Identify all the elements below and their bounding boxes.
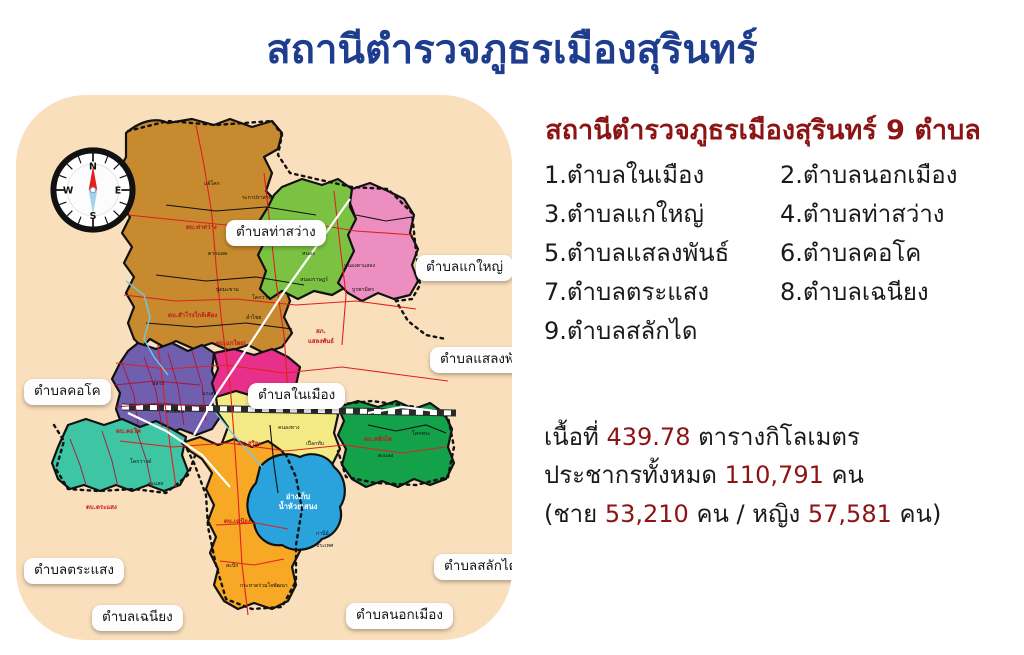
svg-text:ปูดมะขาม: ปูดมะขาม — [216, 287, 239, 293]
svg-text:กระหาดร่วมใจพัฒนา: กระหาดร่วมใจพัฒนา — [240, 582, 288, 589]
stat-gender-breakdown: (ชาย 53,210 คน / หญิง 57,581 คน) — [532, 495, 1012, 533]
poster-root: สถานีตำรวจภูธรเมืองสุรินทร์ .outl{stroke… — [0, 0, 1024, 655]
svg-text:ตากแดด: ตากแดด — [208, 251, 228, 257]
info-panel-subtitle: สถานีตำรวจภูธรเมืองสุรินทร์ 9 ตำบล — [518, 108, 1008, 151]
map-label-salaeng-phan[interactable]: ตำบลแสลงพันธ์ — [430, 347, 512, 373]
svg-text:หนองตาแสลง: หนองตาแสลง — [344, 263, 376, 269]
svg-text:หนองราษฎร์: หนองราษฎร์ — [300, 276, 328, 283]
map-label-salak-dai[interactable]: ตำบลสลักได — [434, 554, 512, 580]
compass-label-south: S — [90, 211, 97, 222]
compass-label-east: E — [115, 185, 121, 196]
stat-gender-open: (ชาย — [544, 500, 605, 528]
map-label-kae-yai[interactable]: ตำบลแกใหญ่ — [416, 255, 512, 281]
compass-label-north: N — [89, 161, 97, 172]
svg-text:ประเทศ: ประเทศ — [316, 543, 334, 549]
stat-population-suffix: คน — [824, 461, 864, 489]
svg-text:หนอง: หนอง — [302, 251, 315, 257]
svg-text:นาเสา: นาเสา — [202, 391, 216, 397]
svg-text:บูรพามิตร: บูรพามิตร — [352, 286, 374, 293]
svg-text:แจ้โคก: แจ้โคก — [204, 180, 220, 187]
lake-label-line2: น้ำห้วยเสนง — [279, 500, 318, 511]
svg-text:ตบ.สุริยะ: ตบ.สุริยะ — [238, 439, 262, 447]
map-label-nai-mueang[interactable]: ตำบลในเมือง — [248, 383, 345, 409]
tambon-item-5[interactable]: 5.ตำบลแสลงพันธ์ — [532, 236, 766, 270]
svg-text:ตบ.เฉนียง: ตบ.เฉนียง — [224, 517, 251, 525]
map-label-nok-mueang[interactable]: ตำบลนอกเมือง — [346, 603, 453, 629]
tambon-item-1[interactable]: 1.ตำบลในเมือง — [532, 158, 766, 192]
tambon-item-2[interactable]: 2.ตำบลนอกเมือง — [766, 158, 1002, 192]
stat-population: ประชากรทั้งหมด 110,791 คน — [532, 456, 1012, 494]
tambon-item-6[interactable]: 6.ตำบลคอโค — [766, 236, 1002, 270]
svg-text:ตบ.สำโรงใกล้เคียง: ตบ.สำโรงใกล้เคียง — [168, 311, 217, 319]
map-panel: .outl{stroke:#111;stroke-width:2.2;strok… — [16, 95, 512, 640]
map-label-kho-kho[interactable]: ตำบลคอโค — [24, 379, 111, 405]
stat-area-value: 439.78 — [606, 423, 690, 451]
stat-female-value: 57,581 — [808, 500, 892, 528]
compass-label-west: W — [63, 185, 74, 196]
svg-text:สะบิก: สะบิก — [226, 562, 238, 569]
svg-text:ตบ.คอโค: ตบ.คอโค — [116, 427, 141, 435]
tambon-row: 1.ตำบลในเมือง 2.ตำบลนอกเมือง — [532, 158, 1002, 192]
svg-text:ตบ.ท่าสว่าง: ตบ.ท่าสว่าง — [186, 224, 217, 231]
lake-label-line1: อ่างเก็บ — [286, 491, 310, 501]
tambon-item-8[interactable]: 8.ตำบลเฉนียง — [766, 275, 1002, 309]
svg-text:กานีย์: กานีย์ — [316, 530, 329, 537]
svg-text:โคกวาง: โคกวาง — [252, 294, 270, 301]
tambon-row: 9.ตำบลสลักได — [532, 314, 1002, 348]
stat-area-suffix: ตารางกิโลเมตร — [690, 423, 859, 451]
svg-text:หลาง: หลาง — [152, 381, 165, 387]
tambon-item-4[interactable]: 4.ตำบลท่าสว่าง — [766, 197, 1002, 231]
svg-text:ตะเตียน: ตะเตียน — [166, 408, 184, 415]
map-label-trasaeng[interactable]: ตำบลตระแสง — [24, 558, 124, 584]
tambon-item-blank — [766, 314, 1002, 348]
stat-population-value: 110,791 — [725, 461, 824, 489]
svg-text:สภ.: สภ. — [316, 328, 326, 335]
tambon-row: 3.ตำบลแกใหญ่ 4.ตำบลท่าสว่าง — [532, 197, 1002, 231]
tambon-list: 1.ตำบลในเมือง 2.ตำบลนอกเมือง 3.ตำบลแกใหญ… — [532, 158, 1002, 353]
stat-area: เนื้อที่ 439.78 ตารางกิโลเมตร — [532, 418, 1012, 456]
svg-text:โคกวาวด์: โคกวาวด์ — [130, 458, 152, 465]
svg-text:แสลงพันธ์: แสลงพันธ์ — [308, 337, 334, 345]
map-canvas: .outl{stroke:#111;stroke-width:2.2;strok… — [16, 95, 512, 640]
svg-text:ตบ.ตระแสง: ตบ.ตระแสง — [86, 504, 117, 511]
svg-text:ตะแลง: ตะแลง — [378, 453, 394, 459]
info-panel: สถานีตำรวจภูธรเมืองสุรินทร์ 9 ตำบล 1.ตำบ… — [518, 100, 1018, 645]
page-title: สถานีตำรวจภูธรเมืองสุรินทร์ — [0, 28, 1024, 72]
tambon-row: 5.ตำบลแสลงพันธ์ 6.ตำบลคอโค — [532, 236, 1002, 270]
statistics-block: เนื้อที่ 439.78 ตารางกิโลเมตร ประชากรทั้… — [532, 418, 1012, 533]
map-label-chaniang[interactable]: ตำบลเฉนียง — [92, 605, 183, 631]
tambon-item-9[interactable]: 9.ตำบลสลักได — [532, 314, 766, 348]
svg-text:ตะแสง: ตะแสง — [148, 481, 164, 487]
svg-text:โคกพระ: โคกพระ — [412, 430, 431, 437]
tambon-item-3[interactable]: 3.ตำบลแกใหญ่ — [532, 197, 766, 231]
stat-population-prefix: ประชากรทั้งหมด — [544, 461, 725, 489]
svg-text:เปือกทับ: เปือกทับ — [306, 440, 324, 447]
map-label-tha-sawang[interactable]: ตำบลท่าสว่าง — [226, 220, 326, 246]
stat-male-value: 53,210 — [605, 500, 689, 528]
stat-area-prefix: เนื้อที่ — [544, 423, 606, 451]
svg-text:ตบ.สลักได: ตบ.สลักได — [364, 435, 392, 443]
tambon-row: 7.ตำบลตระแสง 8.ตำบลเฉนียง — [532, 275, 1002, 309]
tambon-item-7[interactable]: 7.ตำบลตระแสง — [532, 275, 766, 309]
svg-text:ตบ.แกใหญ่: ตบ.แกใหญ่ — [216, 339, 245, 347]
svg-text:คนองทาง: คนองทาง — [278, 425, 300, 431]
reservoir-huai-saneng[interactable]: อ่างเก็บ น้ำห้วยเสนง — [247, 454, 344, 550]
stat-gender-close: คน) — [892, 500, 941, 528]
compass-rose-icon: N E S W — [50, 147, 136, 233]
svg-text:ลำไชย: ลำไชย — [246, 313, 261, 321]
stat-gender-mid: คน / หญิง — [689, 500, 808, 528]
svg-text:ระกาปราสาท: ระกาปราสาท — [242, 195, 273, 201]
